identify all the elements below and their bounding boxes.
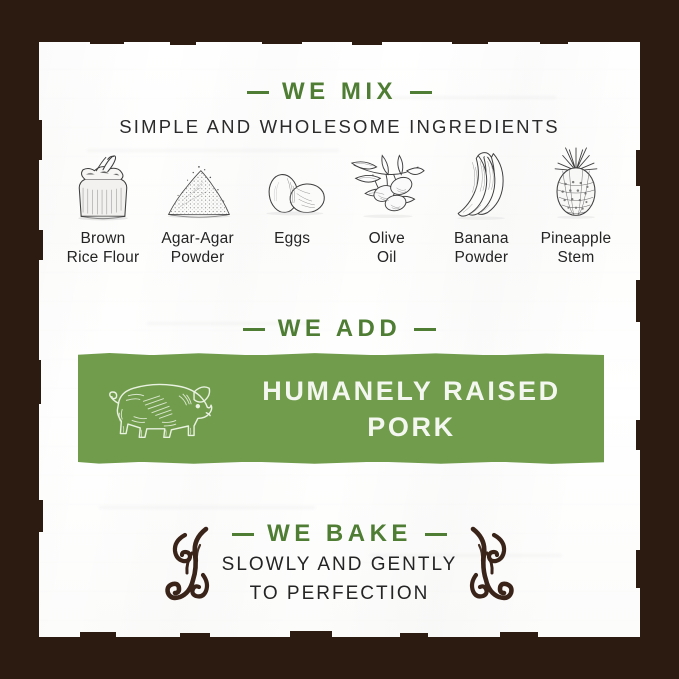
ingredient-label: Eggs: [274, 229, 310, 248]
ingredient-label: Pineapple Stem: [541, 229, 612, 267]
we-add-heading-text: WE ADD: [278, 315, 401, 343]
pork-line-2: PORK: [243, 409, 580, 445]
ingredient-label: Banana Powder: [454, 229, 509, 267]
ingredient-label: Brown Rice Flour: [67, 229, 140, 267]
paper-card: WE MIX SIMPLE AND WHOLESOME INGREDIENTS: [39, 42, 640, 637]
ingredient-item: Banana Powder: [435, 146, 527, 267]
powder-heap-icon: [153, 146, 243, 222]
we-add-heading: WE ADD: [39, 315, 640, 343]
pork-line-1: HUMANELY RAISED: [243, 373, 580, 409]
pork-banner-text: HUMANELY RAISED PORK: [243, 373, 604, 445]
infographic-frame: WE MIX SIMPLE AND WHOLESOME INGREDIENTS: [0, 0, 679, 679]
we-mix-heading-text: WE MIX: [282, 78, 397, 106]
ingredient-list: Brown Rice Flour: [57, 146, 622, 267]
pineapple-icon: [531, 146, 621, 222]
pork-banner: HUMANELY RAISED PORK: [78, 355, 604, 462]
we-bake-heading: WE BAKE: [39, 520, 640, 548]
olive-branch-icon: [342, 146, 432, 222]
we-mix-subheading: SIMPLE AND WHOLESOME INGREDIENTS: [39, 116, 640, 138]
bananas-icon: [436, 146, 526, 222]
rule-right-bake: [425, 533, 447, 536]
ingredient-label: Agar-Agar Powder: [161, 229, 233, 267]
bake-line-2: TO PERFECTION: [39, 579, 640, 608]
eggs-icon: [247, 146, 337, 222]
pig-icon: [78, 375, 243, 443]
rule-left-mix: [247, 91, 269, 94]
we-mix-heading: WE MIX: [39, 78, 640, 106]
rule-right-add: [414, 328, 436, 331]
ingredient-item: Pineapple Stem: [530, 146, 622, 267]
we-bake-heading-text: WE BAKE: [267, 520, 412, 548]
ingredient-item: Eggs: [246, 146, 338, 248]
rule-left-add: [243, 328, 265, 331]
ingredient-item: Olive Oil: [341, 146, 433, 267]
ingredient-label: Olive Oil: [369, 229, 405, 267]
rule-left-bake: [232, 533, 254, 536]
bake-line-1: SLOWLY AND GENTLY: [39, 550, 640, 579]
ingredient-item: Agar-Agar Powder: [152, 146, 244, 267]
rule-right-mix: [410, 91, 432, 94]
flour-sack-icon: [58, 146, 148, 222]
we-bake-subtext: SLOWLY AND GENTLY TO PERFECTION: [39, 550, 640, 608]
ingredient-item: Brown Rice Flour: [57, 146, 149, 267]
